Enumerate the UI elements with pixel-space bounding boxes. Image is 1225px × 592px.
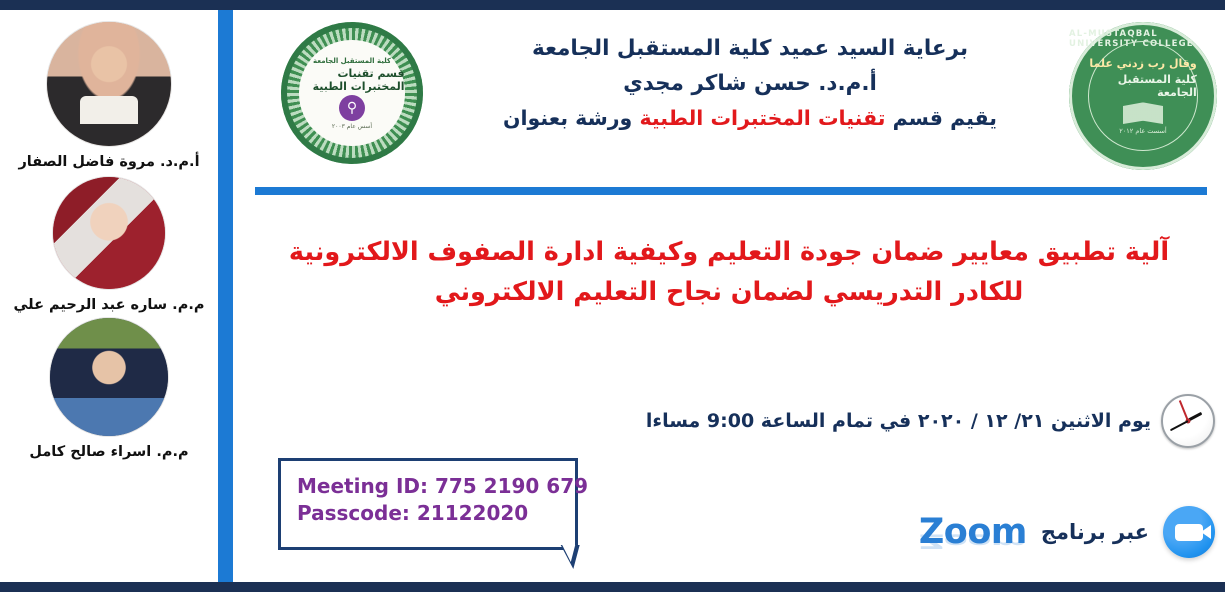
univ-seal-line2: كلية المستقبل الجامعة xyxy=(1089,73,1197,99)
dept-seal-main-text: قسم تقنيات المختبرات الطبية xyxy=(299,67,404,93)
zoom-camera-icon xyxy=(1163,506,1215,558)
organizer-prefix: يقيم قسم xyxy=(885,106,997,130)
vertical-divider-rule xyxy=(218,10,233,582)
speaker-card-1: أ.م.د. مروة فاضل الصفار xyxy=(0,18,218,173)
univ-seal-year-text: أسست عام ٢٠١٢ xyxy=(1119,127,1166,135)
schedule-text: يوم الاثنين ٢١/ ١٢ / ٢٠٢٠ في تمام الساعة… xyxy=(646,410,1151,432)
speaker-avatar-3 xyxy=(50,318,168,436)
speaker-avatar-1 xyxy=(47,22,171,146)
organizer-line: يقيم قسم تقنيات المختبرات الطبية ورشة بع… xyxy=(443,102,1057,135)
poster-main-panel: كلية المستقبل الجامعة قسم تقنيات المختبر… xyxy=(233,10,1225,582)
dept-seal-top-text: كلية المستقبل الجامعة xyxy=(313,57,391,65)
header-divider-bar xyxy=(255,187,1207,195)
microscope-icon: ⚲ xyxy=(339,95,365,121)
callout-tail-inner xyxy=(560,545,575,562)
speaker-card-2: م.م. ساره عبد الرحيم علي xyxy=(0,173,218,316)
dean-name-line: أ.م.د. حسن شاكر مجدي xyxy=(443,67,1057,102)
speaker-name-2: م.م. ساره عبد الرحيم علي xyxy=(0,295,218,316)
university-seal-icon: AL-MUSTAQBAL UNIVERSITY COLLEGE وقال رب … xyxy=(1069,22,1217,170)
speakers-sidebar: أ.م.د. مروة فاضل الصفار م.م. ساره عبد ال… xyxy=(0,10,218,582)
platform-row: عبر برنامج Zoom xyxy=(919,506,1215,558)
schedule-row: يوم الاثنين ٢١/ ١٢ / ٢٠٢٠ في تمام الساعة… xyxy=(646,394,1215,448)
meeting-id-line: Meeting ID: 775 2190 679 xyxy=(297,473,575,500)
analog-clock-icon xyxy=(1161,394,1215,448)
workshop-title: آلية تطبيق معايير ضمان جودة التعليم وكيف… xyxy=(273,232,1185,313)
speaker-name-3: م.م. اسراء صالح كامل xyxy=(0,442,218,463)
passcode-line: Passcode: 21122020 xyxy=(297,500,575,527)
top-border-strip xyxy=(0,0,1225,10)
organizer-department: تقنيات المختبرات الطبية xyxy=(639,106,885,130)
platform-via-label: عبر برنامج xyxy=(1041,520,1149,544)
speaker-name-1: أ.م.د. مروة فاضل الصفار xyxy=(0,152,218,173)
organizer-suffix: ورشة بعنوان xyxy=(503,106,639,130)
dean-name: أ.م.د. حسن شاكر مجدي xyxy=(623,71,877,96)
bottom-border-strip xyxy=(0,582,1225,592)
meeting-credentials-callout: Meeting ID: 775 2190 679 Passcode: 21122… xyxy=(278,458,578,550)
zoom-wordmark: Zoom xyxy=(919,515,1027,550)
open-book-icon xyxy=(1123,102,1163,124)
speaker-avatar-2 xyxy=(53,177,165,289)
dept-seal-year-text: أسس عام ٢٠٠٣ xyxy=(332,123,372,130)
department-seal-icon: كلية المستقبل الجامعة قسم تقنيات المختبر… xyxy=(281,22,423,164)
speaker-card-3: م.م. اسراء صالح كامل xyxy=(0,316,218,463)
poster-header: كلية المستقبل الجامعة قسم تقنيات المختبر… xyxy=(233,10,1225,170)
patronage-line: برعاية السيد عميد كلية المستقبل الجامعة xyxy=(443,32,1057,67)
univ-seal-line1: وقال رب زدني علما xyxy=(1089,57,1196,70)
header-text-block: برعاية السيد عميد كلية المستقبل الجامعة … xyxy=(443,32,1057,135)
